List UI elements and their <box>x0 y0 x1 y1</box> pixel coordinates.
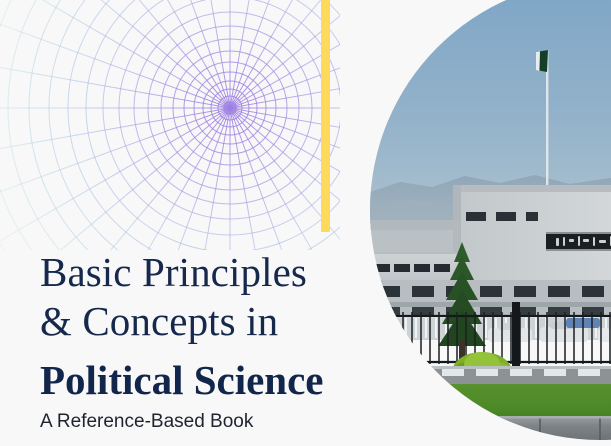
radial-web-pattern <box>0 0 340 250</box>
subtitle: A Reference-Based Book <box>40 410 385 434</box>
title-line-1: Basic Principles <box>40 248 385 297</box>
title-line-2: & Concepts in <box>40 297 385 346</box>
book-cover: Basic Principles & Concepts in Political… <box>0 0 611 446</box>
parliament-building-photo <box>370 0 611 440</box>
vertical-accent-bar <box>321 0 330 232</box>
title-block: Basic Principles & Concepts in Political… <box>40 248 385 434</box>
title-emphasis: Political Science <box>40 354 385 406</box>
